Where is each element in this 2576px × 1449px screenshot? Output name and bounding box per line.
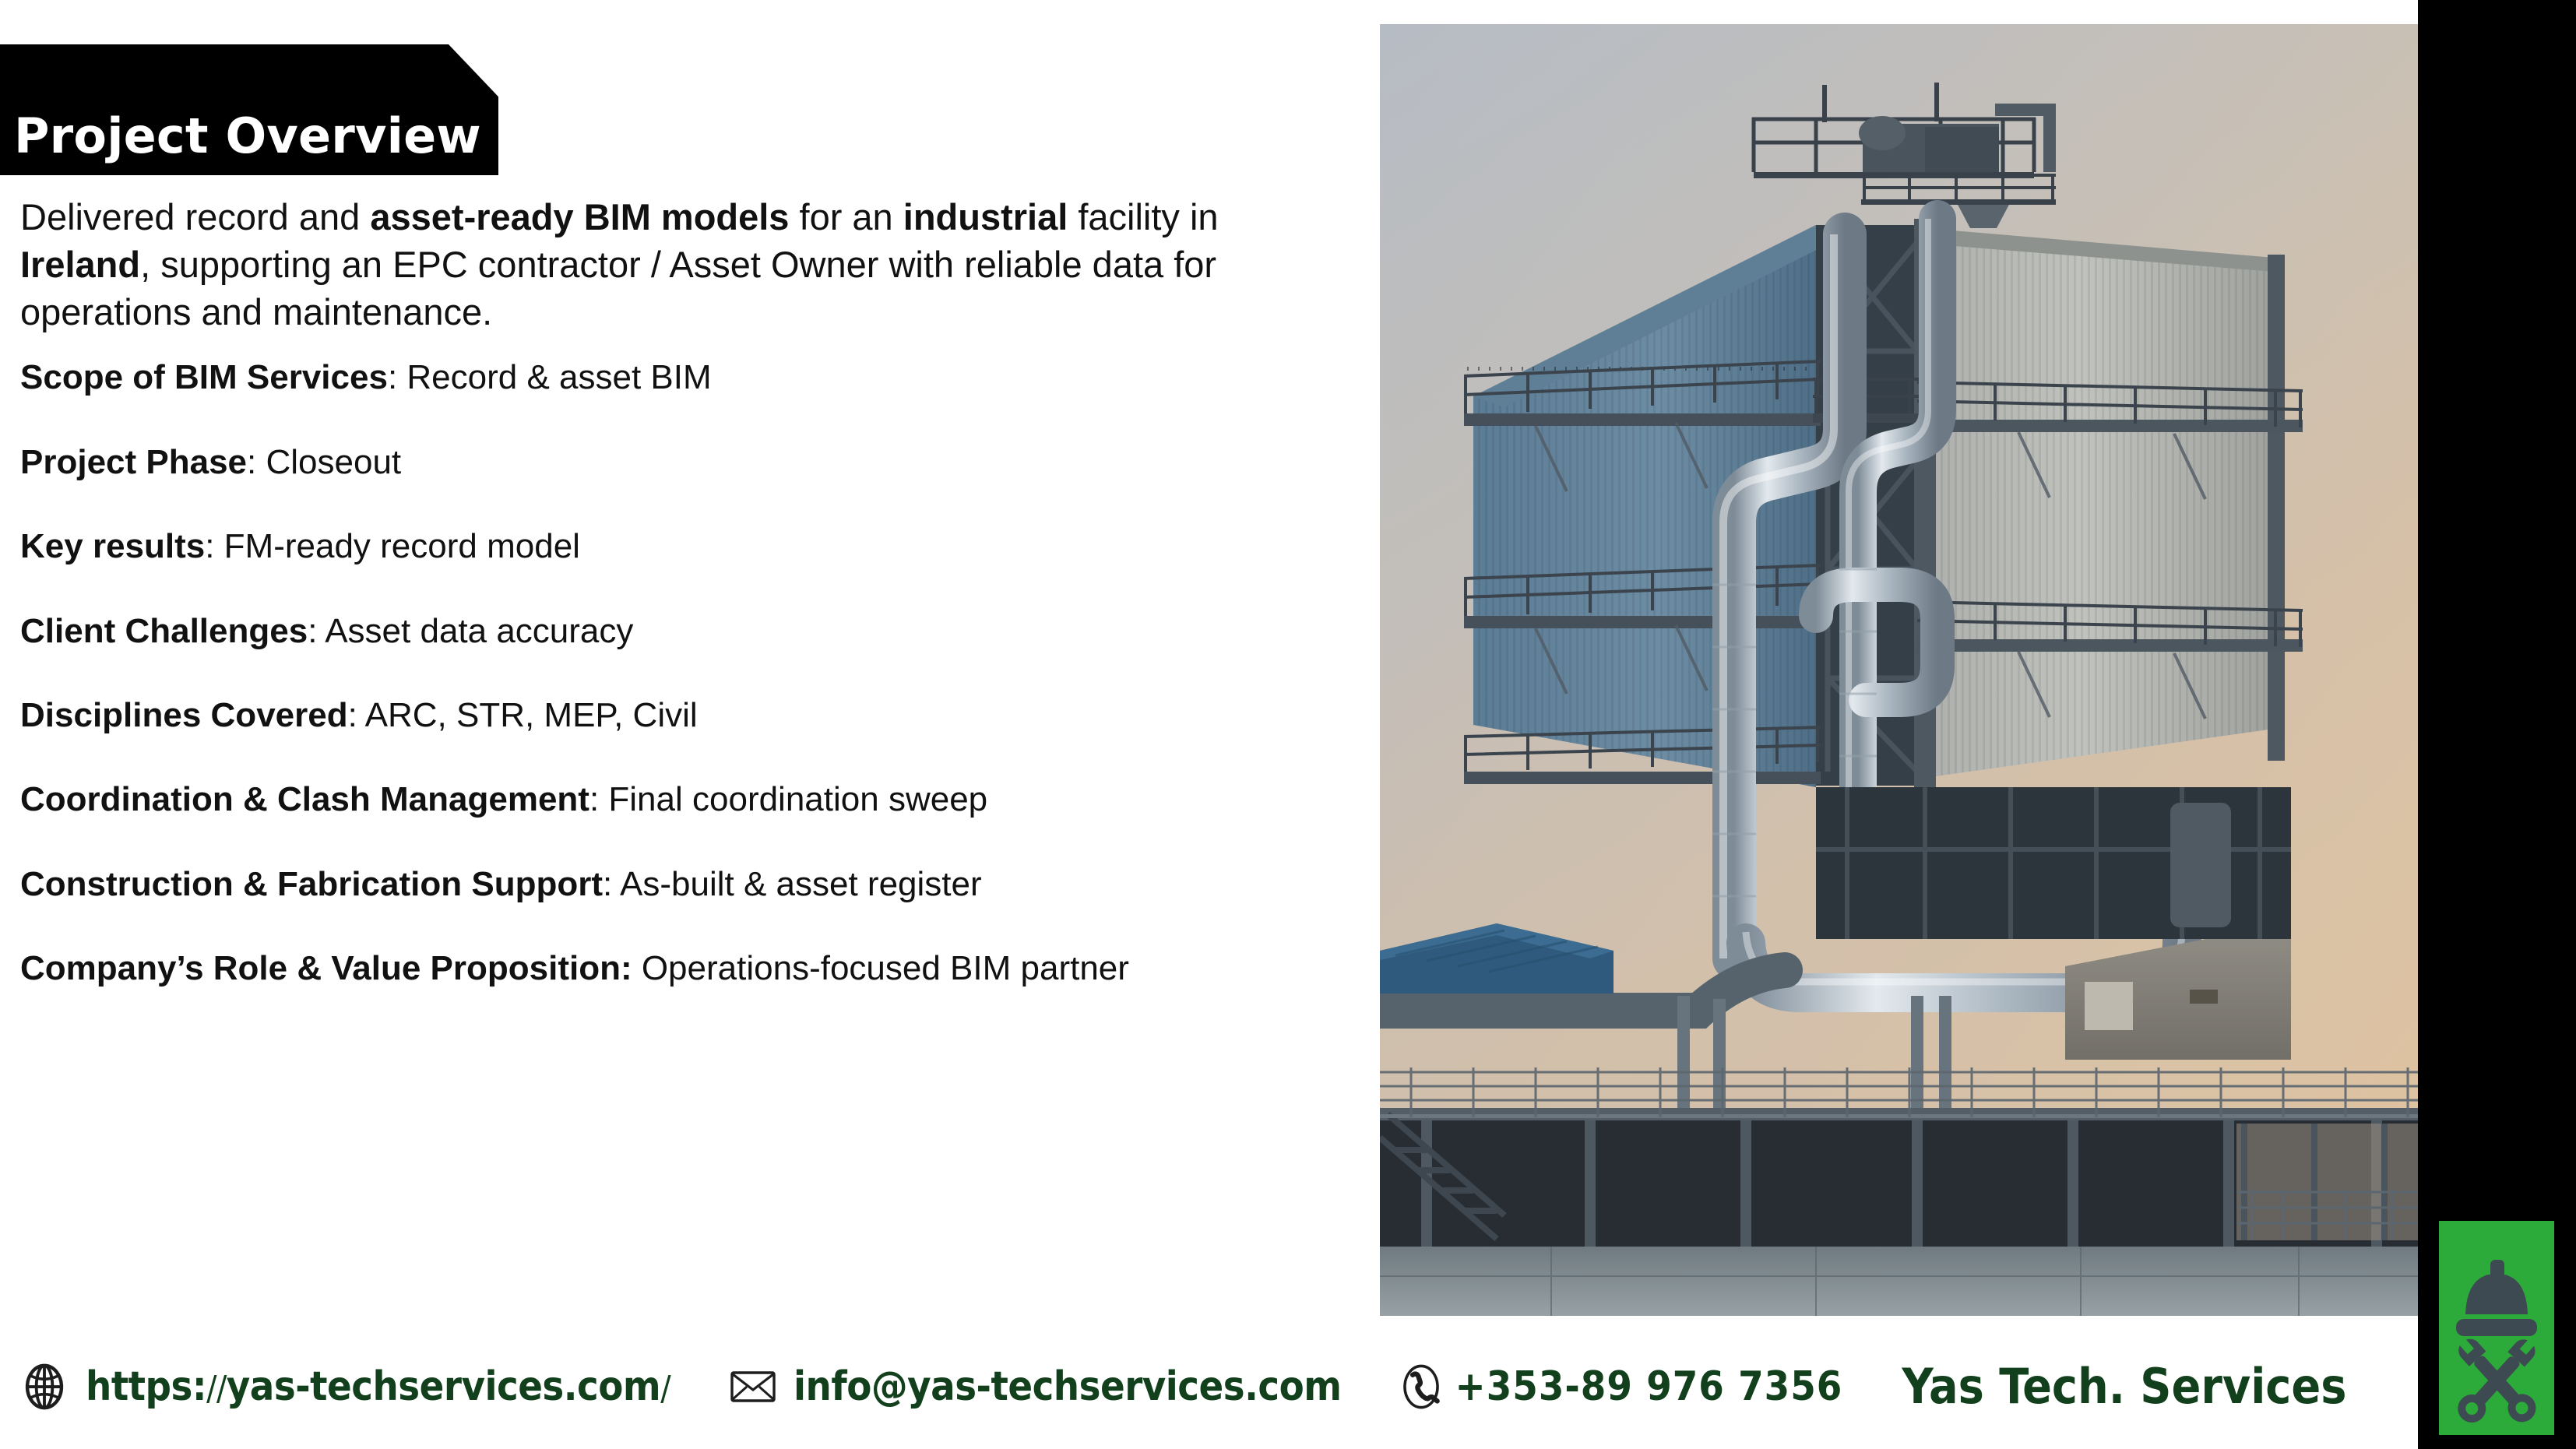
intro-bold-3: Ireland [20, 244, 140, 285]
intro-part-2: for an [789, 196, 903, 237]
envelope-icon [730, 1368, 776, 1405]
detail-row-label: Company’s Role & Value Proposition: [20, 949, 632, 987]
detail-row-value: : Closeout [247, 443, 401, 481]
detail-row-label: Key results [20, 527, 205, 565]
intro-bold-1: asset-ready BIM models [370, 196, 789, 237]
detail-row-value: : ARC, STR, MEP, Civil [348, 696, 698, 734]
detail-row: Client Challenges: Asset data accuracy [20, 610, 1328, 652]
intro-part-4: , supporting an EPC contractor / Asset O… [20, 244, 1216, 332]
detail-row-label: Coordination & Clash Management [20, 780, 589, 818]
detail-row: Project Phase: Closeout [20, 441, 1328, 484]
globe-icon [20, 1363, 69, 1411]
intro-part-1: Delivered record and [20, 196, 370, 237]
detail-row: Company’s Role & Value Proposition: Oper… [20, 947, 1328, 990]
phone-icon [1399, 1363, 1443, 1411]
detail-row-label: Disciplines Covered [20, 696, 348, 734]
phone-number: +353-89 976 7356 [1455, 1363, 1843, 1410]
detail-row-label: Client Challenges [20, 612, 308, 650]
detail-row-label: Project Phase [20, 443, 247, 481]
detail-row: Key results: FM-ready record model [20, 525, 1328, 568]
footer-brand: Yas Tech. Services [1902, 1358, 2346, 1415]
website-domain: yas-techservices.com [227, 1363, 660, 1410]
brand-name: Yas Tech. Services [1902, 1358, 2346, 1415]
detail-row-value: : Final coordination sweep [589, 780, 987, 818]
detail-row: Disciplines Covered: ARC, STR, MEP, Civi… [20, 694, 1328, 737]
website-trailing-slash: / [660, 1369, 670, 1409]
page-title-banner: Project Overview [0, 44, 498, 175]
email-address: info@yas-techservices.com [794, 1363, 1342, 1410]
detail-row-value: : Record & asset BIM [388, 358, 712, 396]
page-title: Project Overview [0, 107, 481, 175]
footer-bar: https://yas-techservices.com/ info@yas-t… [0, 1324, 2418, 1449]
detail-row-value: Operations-focused BIM partner [632, 949, 1129, 987]
detail-row-label: Scope of BIM Services [20, 358, 388, 396]
detail-rows: Scope of BIM Services: Record & asset BI… [20, 356, 1344, 990]
footer-phone[interactable]: +353-89 976 7356 [1399, 1363, 1843, 1411]
website-separator: // [206, 1369, 227, 1409]
intro-paragraph: Delivered record and asset-ready BIM mod… [20, 193, 1336, 336]
content-column: Delivered record and asset-ready BIM mod… [20, 193, 1344, 1032]
intro-bold-2: industrial [903, 196, 1068, 237]
detail-row: Scope of BIM Services: Record & asset BI… [20, 356, 1328, 399]
detail-row-value: : FM-ready record model [205, 527, 580, 565]
detail-row-value: : As-built & asset register [603, 865, 982, 903]
project-photo [1380, 24, 2418, 1316]
detail-row: Construction & Fabrication Support: As-b… [20, 863, 1328, 906]
footer-website[interactable]: https://yas-techservices.com/ [20, 1363, 670, 1411]
detail-row: Coordination & Clash Management: Final c… [20, 778, 1328, 821]
footer-email[interactable]: info@yas-techservices.com [730, 1363, 1342, 1410]
company-logo-badge [2439, 1221, 2554, 1435]
intro-part-3: facility in [1068, 196, 1218, 237]
detail-row-label: Construction & Fabrication Support [20, 865, 603, 903]
detail-row-value: : Asset data accuracy [308, 612, 633, 650]
website-scheme: https: [86, 1363, 206, 1410]
